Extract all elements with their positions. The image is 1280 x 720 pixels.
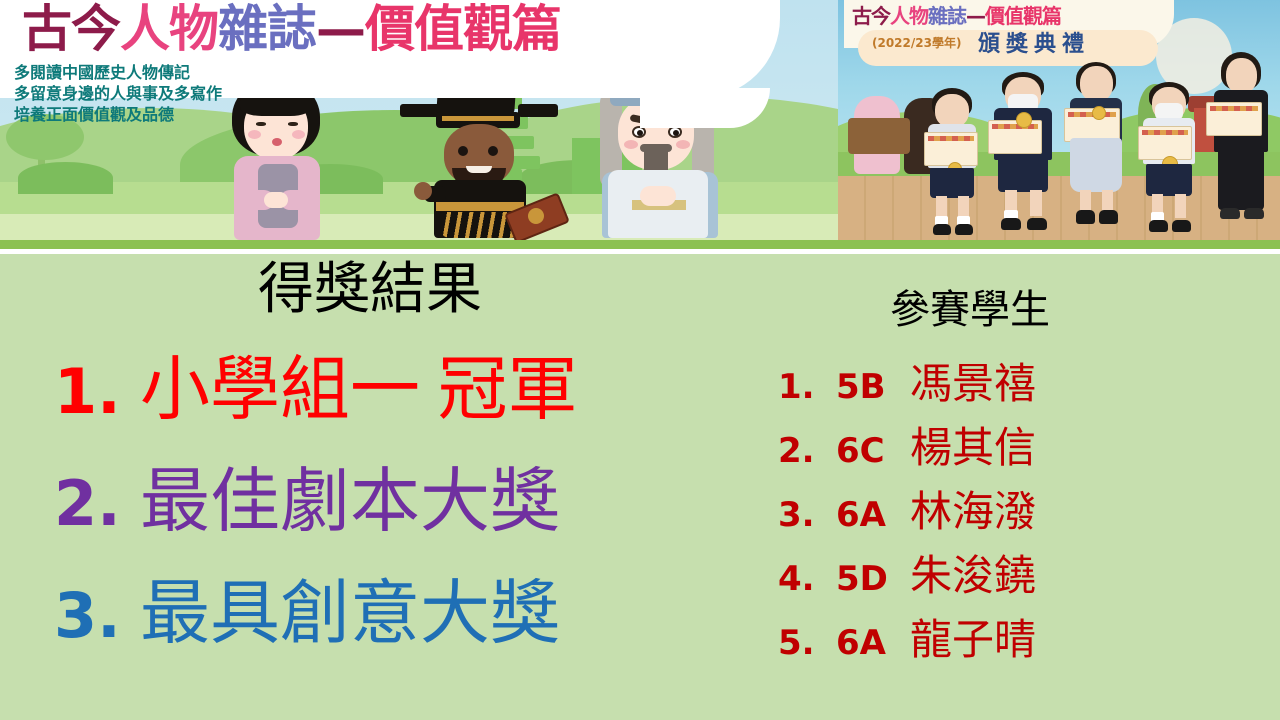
student-photo-figure — [922, 88, 982, 238]
photo-title-part: 人物 — [890, 4, 928, 28]
face — [935, 94, 969, 128]
girl-mouth — [272, 138, 282, 146]
student-photo-figure — [1138, 82, 1200, 238]
magazine-subtitle-line: 多閱讀中國歷史人物傳記 — [14, 62, 222, 83]
result-label: 最具創意大獎 — [140, 580, 560, 650]
shoe — [1027, 218, 1047, 230]
leg — [1030, 190, 1042, 216]
result-item: 2. 最佳劇本大獎 — [54, 468, 740, 580]
student-item: 3. 6A 林海潑 — [778, 492, 1258, 556]
elder-moustache — [640, 144, 672, 152]
student-photo-figure — [990, 72, 1056, 238]
results-list: 1. 小學組一 冠軍 2. 最佳劇本大獎 3. 最具創意大獎 — [54, 356, 740, 692]
student-name: 馮景禧 — [910, 364, 1036, 406]
student-number: 2. — [778, 434, 836, 468]
shoe — [1149, 220, 1168, 232]
student-item: 2. 6C 楊其信 — [778, 428, 1258, 492]
uniform-shorts — [998, 158, 1048, 192]
speech-bubble-tail — [640, 88, 770, 128]
student-number: 1. — [778, 370, 836, 404]
ceremony-label: 頒獎典禮 — [978, 26, 1090, 58]
girl-cheek — [292, 130, 305, 139]
teacher-photo-figure — [1210, 52, 1272, 238]
shoe — [1099, 210, 1118, 224]
certificate — [924, 132, 978, 166]
magazine-title-dash: — — [316, 0, 365, 58]
official-hat-brim — [518, 104, 558, 117]
elder-pupil — [637, 130, 643, 136]
magazine-title-part: 價值觀篇 — [365, 0, 561, 58]
elder-pupil — [673, 130, 679, 136]
magazine-title: 古今人物雜誌—價值觀篇 — [22, 4, 561, 54]
student-name: 龍子晴 — [910, 620, 1036, 662]
student-name: 朱浚鐃 — [910, 556, 1036, 598]
students-list: 1. 5B 馮景禧 2. 6C 楊其信 3. 6A 林海潑 4. 5D — [778, 364, 1258, 684]
shoe — [1244, 208, 1264, 219]
certificate — [1138, 126, 1192, 160]
photo-title-part: 古今 — [852, 4, 890, 28]
pinafore-dress — [1070, 138, 1122, 192]
girl-eye — [256, 122, 266, 126]
slide-root: 古今人物雜誌—價值觀篇 多閱讀中國歷史人物傳記 多留意身邊的人與事及多寫作 培養… — [0, 0, 1280, 720]
result-number: 1. — [54, 361, 140, 423]
shoe — [955, 224, 973, 235]
backdrop-cart — [848, 118, 910, 154]
school-year-label: (2022/23學年) — [872, 34, 961, 51]
elder-hands — [640, 186, 676, 206]
bush-icon — [18, 162, 113, 194]
student-number: 3. — [778, 498, 836, 532]
shoe — [1001, 218, 1021, 230]
shoe — [1220, 208, 1240, 219]
result-label: 小學組一 冠軍 — [140, 356, 578, 426]
medal-icon — [1092, 106, 1106, 120]
magazine-subtitle: 多閱讀中國歷史人物傳記 多留意身邊的人與事及多寫作 培養正面價值觀及品德 — [14, 62, 222, 125]
students-column: 參賽學生 1. 5B 馮景禧 2. 6C 楊其信 3. 6A 林海潑 — [740, 254, 1280, 720]
uniform-shorts — [930, 168, 974, 198]
magazine-title-part: 雜誌 — [218, 0, 316, 58]
official-eye — [458, 146, 468, 156]
leg — [1080, 190, 1091, 212]
student-photo-figure — [1064, 62, 1128, 238]
official-hat-gold-trim — [442, 116, 514, 121]
divider-band-green — [0, 240, 1280, 249]
header-banner: 古今人物雜誌—價值觀篇 多閱讀中國歷史人物傳記 多留意身邊的人與事及多寫作 培養… — [0, 0, 1280, 240]
award-ceremony-photo: 古今人物雜誌—價值觀篇 (2022/23學年) 頒獎典禮 — [838, 0, 1280, 240]
student-name: 楊其信 — [910, 428, 1036, 470]
result-number: 2. — [54, 473, 140, 535]
face — [1226, 58, 1257, 94]
content-area: 得獎結果 1. 小學組一 冠軍 2. 最佳劇本大獎 3. 最具創意大獎 參賽學生 — [0, 254, 1280, 720]
shoe — [1076, 210, 1095, 224]
official-smile — [466, 166, 492, 173]
result-item: 3. 最具創意大獎 — [54, 580, 740, 692]
results-column: 得獎結果 1. 小學組一 冠軍 2. 最佳劇本大獎 3. 最具創意大獎 — [0, 254, 740, 720]
result-number: 3. — [54, 585, 140, 647]
shoe — [933, 224, 951, 235]
girl-eye — [288, 122, 298, 126]
student-class: 6A — [836, 498, 910, 532]
result-item: 1. 小學組一 冠軍 — [54, 356, 740, 468]
magazine-title-part: 人物 — [120, 0, 218, 58]
face — [1080, 66, 1113, 102]
shoe — [1172, 220, 1191, 232]
leg — [1102, 190, 1113, 212]
student-class: 5D — [836, 562, 910, 596]
character-girl — [218, 78, 336, 238]
students-heading: 參賽學生 — [740, 290, 1200, 330]
result-label: 最佳劇本大獎 — [140, 468, 560, 538]
official-hand — [414, 182, 432, 200]
student-number: 4. — [778, 562, 836, 596]
student-item: 5. 6A 龍子晴 — [778, 620, 1258, 684]
student-class: 6C — [836, 434, 910, 468]
photo-banner-title: 古今人物雜誌—價值觀篇 — [852, 0, 1061, 29]
magazine-subtitle-line: 多留意身邊的人與事及多寫作 — [14, 83, 222, 104]
uniform-shorts — [1146, 164, 1192, 196]
leg — [1175, 194, 1186, 218]
elder-cheek — [624, 140, 638, 149]
official-eye — [488, 146, 498, 156]
student-class: 6A — [836, 626, 910, 660]
official-hat-brim — [400, 104, 440, 117]
student-name: 林海潑 — [910, 492, 1036, 534]
student-item: 1. 5B 馮景禧 — [778, 364, 1258, 428]
photo-title-part: 價值觀篇 — [985, 4, 1061, 28]
photo-title-dash: — — [966, 4, 985, 28]
results-heading: 得獎結果 — [0, 262, 740, 318]
magazine-subtitle-line: 培養正面價值觀及品德 — [14, 104, 222, 125]
magazine-title-part: 古今 — [22, 0, 120, 58]
girl-hands — [264, 192, 288, 208]
photo-title-part: 雜誌 — [928, 4, 966, 28]
elder-cheek — [676, 140, 690, 149]
magazine-cover-illustration: 古今人物雜誌—價值觀篇 多閱讀中國歷史人物傳記 多留意身邊的人與事及多寫作 培養… — [0, 0, 838, 240]
student-number: 5. — [778, 626, 836, 660]
girl-cheek — [248, 130, 261, 139]
medal-icon — [1016, 112, 1032, 128]
certificate — [1206, 102, 1262, 136]
student-class: 5B — [836, 370, 910, 404]
certificate — [988, 120, 1042, 154]
student-item: 4. 5D 朱浚鐃 — [778, 556, 1258, 620]
trousers — [1218, 148, 1264, 210]
official-belt — [436, 202, 524, 211]
